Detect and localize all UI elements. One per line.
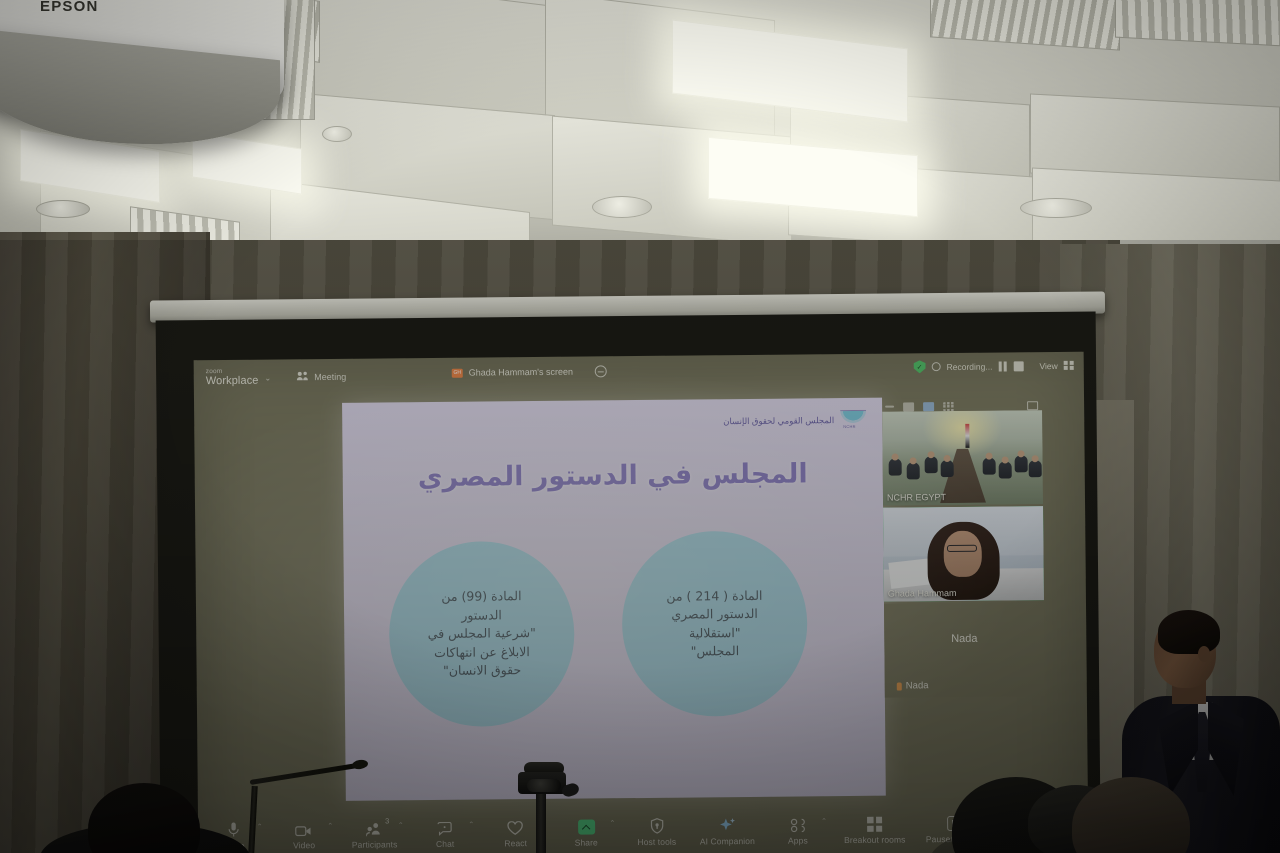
speaker-view-icon[interactable] xyxy=(903,402,914,411)
circle-article-214: المادة ( 214 ) من الدستور المصري "استقلا… xyxy=(621,530,808,717)
camera-icon xyxy=(295,820,312,837)
heart-icon xyxy=(507,818,523,835)
ceiling-speaker xyxy=(36,200,90,218)
stop-share-icon[interactable] xyxy=(595,365,607,377)
video-tile-ghada-hammam[interactable]: Ghada Hammam xyxy=(883,506,1044,602)
share-label: Share xyxy=(575,837,598,847)
zoom-top-bar: zoom Workplace ⌄ Meeting GH Ghada Hammam… xyxy=(194,352,1084,397)
mic-muted-icon xyxy=(897,682,902,690)
video-tile-name-label: Nada xyxy=(897,680,929,691)
participants-count-badge: 3 xyxy=(385,816,389,825)
smoke-detector xyxy=(322,126,352,142)
conference-room-photo: EPSON zoom Workplace ⌄ Meeting GH xyxy=(0,0,1280,853)
screen-share-indicator: GH Ghada Hammam's screen xyxy=(452,365,607,378)
record-dot-icon xyxy=(932,362,941,371)
nchr-logo: المجلس القومي لحقوق الإنسان NCHR xyxy=(723,408,866,433)
circle-article-214-text: المادة ( 214 ) من الدستور المصري "استقلا… xyxy=(666,586,763,661)
view-menu-label[interactable]: View xyxy=(1039,360,1057,370)
video-feed-conference-room xyxy=(882,410,1043,506)
slide-title: المجلس في الدستور المصري xyxy=(343,458,883,494)
meeting-tab[interactable]: Meeting xyxy=(297,371,346,383)
minimize-icon[interactable] xyxy=(885,406,894,408)
workplace-label: Workplace xyxy=(206,375,259,387)
shared-slide: المجلس القومي لحقوق الإنسان NCHR المجلس … xyxy=(342,398,886,801)
chevron-up-icon[interactable]: ⌃ xyxy=(257,823,263,831)
multi-speaker-grid-icon[interactable] xyxy=(943,401,954,410)
grid-view-icon[interactable] xyxy=(1064,361,1074,370)
sharer-avatar: GH xyxy=(452,368,463,377)
apps-label: Apps xyxy=(788,835,808,845)
nchr-logo-text: المجلس القومي لحقوق الإنسان xyxy=(723,415,834,427)
zoom-top-bar-right: ✓ Recording... View xyxy=(914,359,1074,374)
participants-icon xyxy=(366,819,382,836)
chevron-up-icon[interactable]: ⌃ xyxy=(468,821,474,829)
shield-check-icon[interactable]: ✓ xyxy=(914,360,926,373)
meeting-tab-label: Meeting xyxy=(314,372,346,382)
chevron-up-icon[interactable]: ⌃ xyxy=(327,822,333,830)
react-label: React xyxy=(504,838,527,848)
ai-companion-button[interactable]: AI Companion xyxy=(692,809,763,853)
breakout-rooms-icon xyxy=(867,815,882,832)
screen-share-label: Ghada Hammam's screen xyxy=(469,367,573,378)
ai-companion-label: AI Companion xyxy=(700,836,755,847)
chat-button[interactable]: Chat ⌃ xyxy=(410,812,481,853)
chevron-up-icon[interactable]: ⌃ xyxy=(398,821,404,829)
camera-lens xyxy=(527,779,561,792)
gallery-view-icon[interactable] xyxy=(923,402,934,411)
apps-grid-icon xyxy=(790,815,806,832)
people-icon xyxy=(297,371,309,383)
ceiling-speaker xyxy=(592,196,652,218)
popout-icon[interactable] xyxy=(1027,401,1038,410)
video-thumbnail-strip: NCHR EGYPT Ghada Hammam Nada Nada xyxy=(882,410,1045,732)
participant-name-centered: Nada xyxy=(884,632,1044,646)
shield-icon xyxy=(650,817,664,834)
video-tile-nada[interactable]: Nada Nada xyxy=(884,602,1045,698)
apps-button[interactable]: Apps ⌃ xyxy=(762,808,833,853)
pause-icon[interactable] xyxy=(998,361,1007,371)
circle-article-99: المادة (99) من الدستور "شرعية المجلس في … xyxy=(388,541,575,728)
air-vent xyxy=(930,0,1120,51)
recording-status-label: Recording... xyxy=(947,361,993,371)
air-vent xyxy=(1115,0,1280,46)
chevron-down-icon[interactable]: ⌄ xyxy=(264,373,271,382)
video-tile-name-label: NCHR EGYPT xyxy=(887,492,946,503)
share-screen-button[interactable]: Share ⌃ xyxy=(551,810,622,853)
stop-icon[interactable] xyxy=(1013,361,1023,371)
nchr-emblem-icon: NCHR xyxy=(840,408,866,432)
chevron-up-icon[interactable]: ⌃ xyxy=(609,819,615,827)
breakout-rooms-label: Breakout rooms xyxy=(844,834,905,845)
slide-circles: المادة ( 214 ) من الدستور المصري "استقلا… xyxy=(343,524,885,749)
chat-label: Chat xyxy=(436,839,454,849)
participants-label: Participants xyxy=(352,839,398,849)
flag-icon xyxy=(965,424,969,448)
breakout-rooms-button[interactable]: Breakout rooms xyxy=(833,807,917,852)
epson-brand-label: EPSON xyxy=(40,0,99,15)
zoom-meeting-window: zoom Workplace ⌄ Meeting GH Ghada Hammam… xyxy=(194,352,1089,853)
host-tools-label: Host tools xyxy=(637,837,676,847)
video-button[interactable]: Video ⌃ xyxy=(269,813,340,853)
video-feed-ghada-hammam xyxy=(883,506,1044,602)
share-screen-icon xyxy=(578,817,595,834)
participants-button[interactable]: Participants 3 ⌃ xyxy=(339,812,410,853)
microphone-icon xyxy=(228,821,239,838)
nchr-logo-sub: NCHR xyxy=(843,424,855,429)
circle-article-99-text: المادة (99) من الدستور "شرعية المجلس في … xyxy=(427,587,536,681)
sparkle-icon xyxy=(719,816,736,833)
ceiling-speaker xyxy=(1020,198,1092,218)
zoom-workplace-logo[interactable]: zoom Workplace xyxy=(206,369,259,387)
chevron-up-icon[interactable]: ⌃ xyxy=(821,817,827,825)
video-tile-nchr-egypt[interactable]: NCHR EGYPT xyxy=(882,410,1043,506)
chat-bubble-icon xyxy=(437,819,452,836)
video-label: Video xyxy=(293,840,315,850)
host-tools-button[interactable]: Host tools xyxy=(621,810,692,853)
eyeglasses-icon xyxy=(947,544,977,551)
video-tile-name-label: Ghada Hammam xyxy=(888,588,957,599)
